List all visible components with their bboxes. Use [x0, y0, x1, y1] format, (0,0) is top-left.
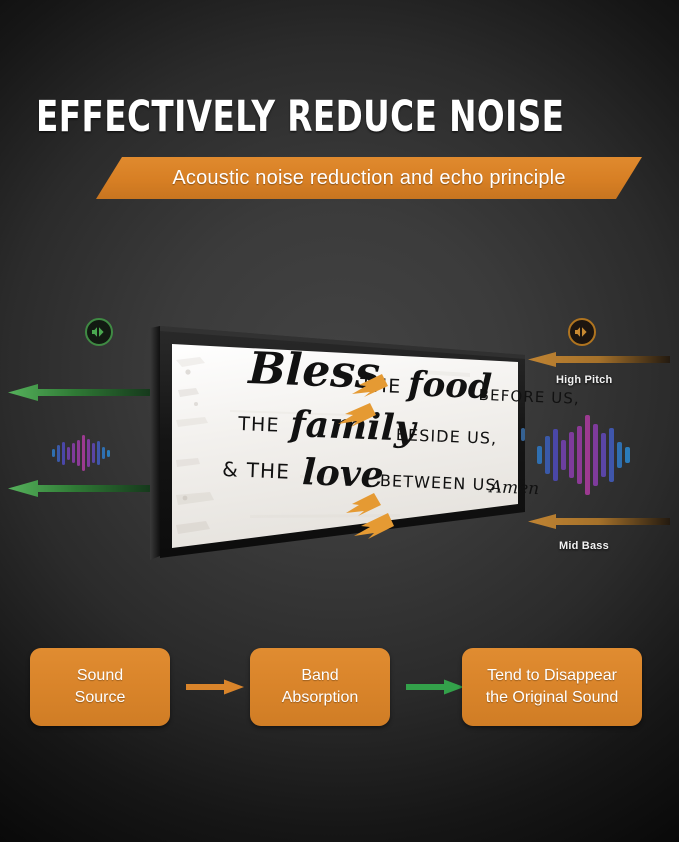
sign-graphic: Bless THE food BEFORE US, THE family BES… [0, 300, 679, 590]
svg-text:love: love [301, 451, 384, 496]
flow-arrow-orange [186, 679, 246, 695]
page-title: EFFECTIVELY REDUCE NOISE [36, 92, 564, 141]
flow-node-band-absorption[interactable]: Band Absorption [250, 648, 390, 726]
flow-node-3-line1: Tend to Disappear [487, 667, 617, 684]
flow-node-2-line2: Absorption [282, 689, 359, 706]
flow-node-1-line2: Source [75, 689, 126, 706]
svg-text:& THE: & THE [222, 457, 291, 484]
flow-arrow-green [406, 679, 466, 695]
flow-node-sound-source[interactable]: Sound Source [30, 648, 170, 726]
flow-node-disappear[interactable]: Tend to Disappear the Original Sound [462, 648, 642, 726]
acoustic-panel-sign: Bless THE food BEFORE US, THE family BES… [0, 300, 679, 590]
svg-text:THE: THE [237, 413, 280, 437]
process-flow: Sound Source Band Absorption Tend to Dis… [0, 648, 679, 758]
infographic-page: EFFECTIVELY REDUCE NOISE Acoustic noise … [0, 0, 679, 842]
svg-text:Amen: Amen [487, 477, 539, 499]
flow-node-3-line2: the Original Sound [486, 689, 619, 706]
svg-text:BESIDE US,: BESIDE US, [396, 425, 498, 448]
flow-node-1-line1: Sound [77, 667, 123, 684]
subtitle-banner-label: Acoustic noise reduction and echo princi… [96, 157, 642, 199]
flow-node-2-line1: Band [301, 667, 338, 684]
